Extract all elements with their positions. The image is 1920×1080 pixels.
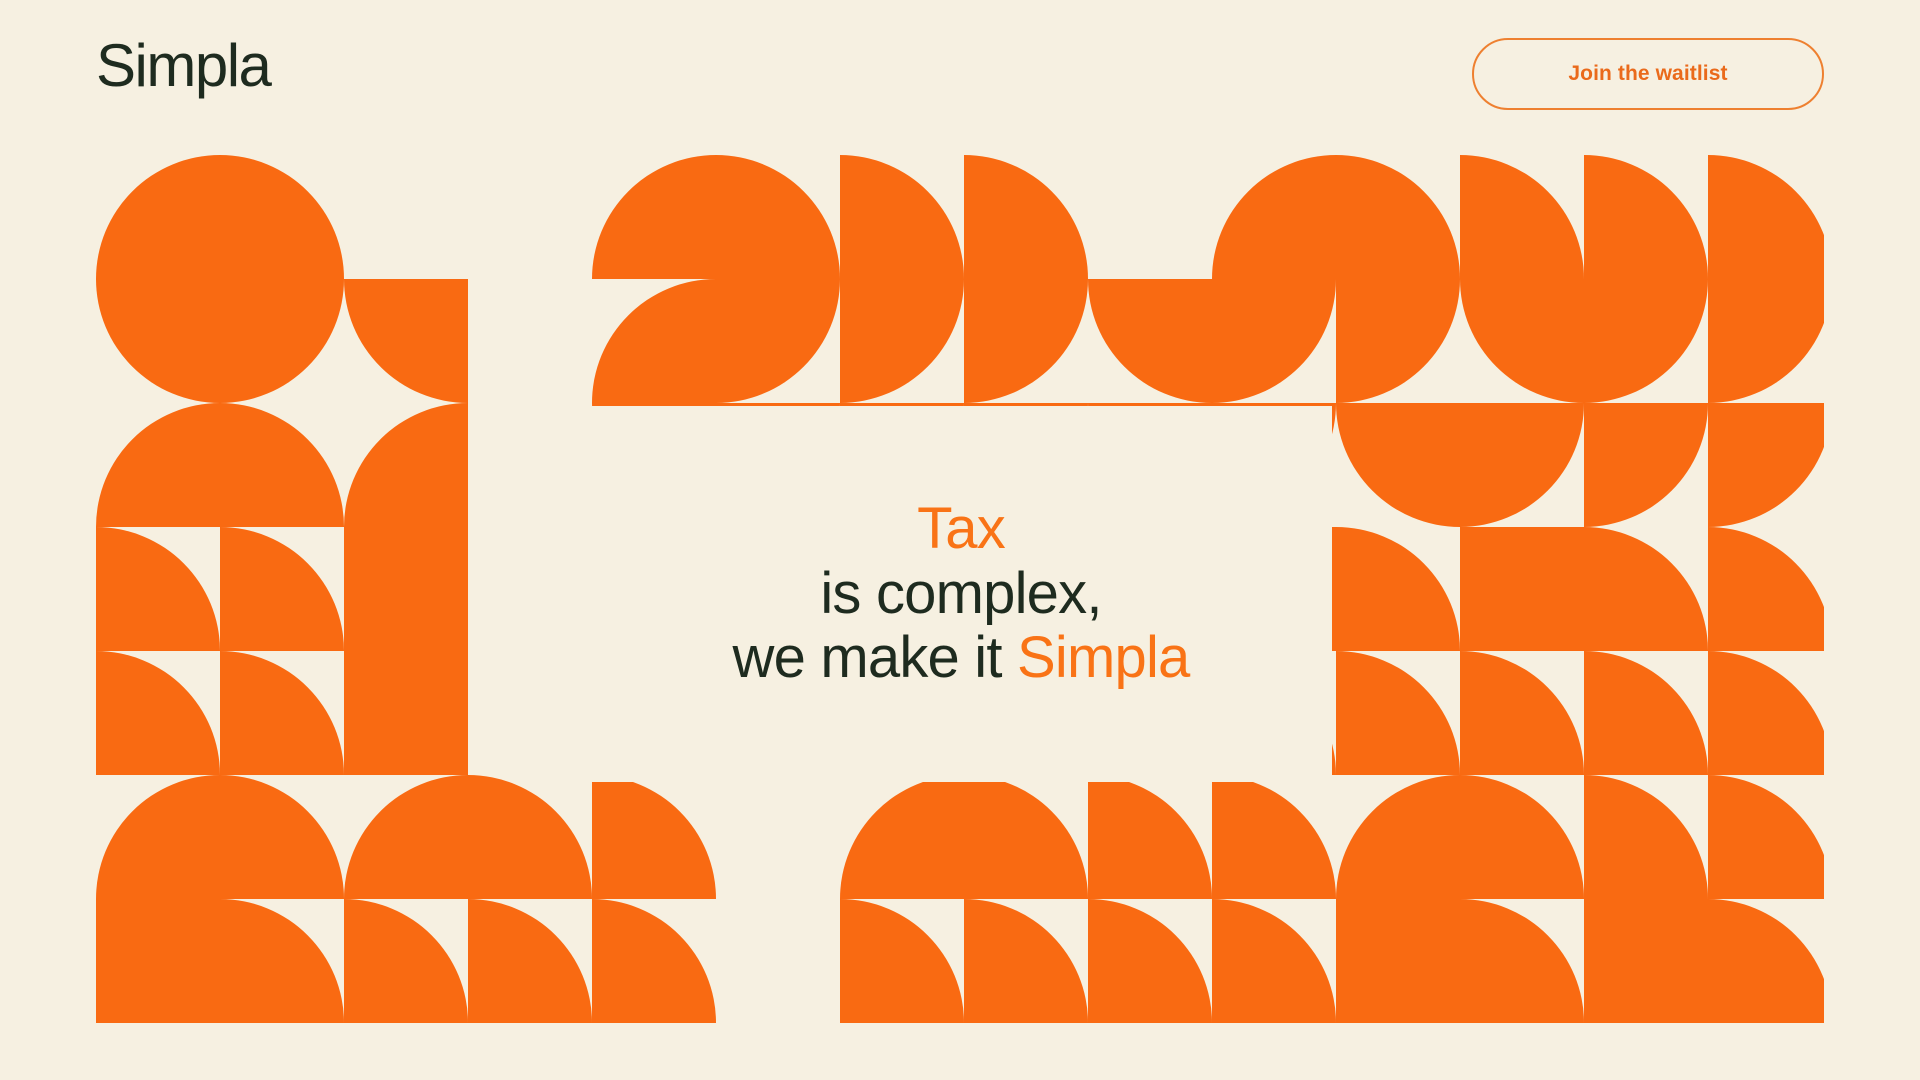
headline-line-1: Tax: [732, 497, 1189, 562]
join-waitlist-label: Join the waitlist: [1568, 62, 1727, 86]
site-header: Simpla Join the waitlist: [0, 0, 1920, 155]
headline-line-3-prefix: we make it: [732, 625, 1017, 690]
headline-line-3-accent: Simpla: [1017, 625, 1190, 690]
headline-line-3: we make it Simpla: [732, 626, 1189, 691]
hero-headline: Tax is complex, we make it Simpla: [732, 497, 1189, 692]
hero-text-card: Tax is complex, we make it Simpla: [590, 406, 1332, 782]
landing-page: Simpla Join the waitlist Tax is complex,…: [0, 0, 1920, 1080]
headline-line-2: is complex,: [732, 562, 1189, 627]
brand-logo[interactable]: Simpla: [96, 36, 270, 96]
join-waitlist-button[interactable]: Join the waitlist: [1472, 38, 1824, 110]
